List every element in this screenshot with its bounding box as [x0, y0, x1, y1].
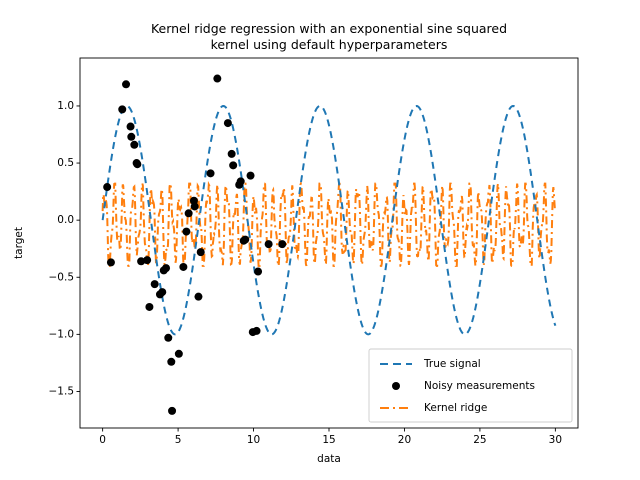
- scatter-point: [118, 105, 126, 113]
- matplotlib-figure: Kernel ridge regression with an exponent…: [0, 0, 640, 480]
- scatter-point: [253, 327, 261, 335]
- x-axis-label: data: [317, 453, 341, 465]
- scatter-point: [107, 258, 115, 266]
- legend-label: Kernel ridge: [424, 402, 487, 414]
- x-tick-label: 20: [398, 434, 411, 446]
- scatter-point: [167, 358, 175, 366]
- x-tick-label: 0: [99, 434, 106, 446]
- scatter-point: [133, 160, 141, 168]
- scatter-point: [151, 280, 159, 288]
- scatter-point: [191, 202, 199, 210]
- scatter-point: [213, 75, 221, 83]
- scatter-point: [185, 209, 193, 217]
- scatter-point: [130, 141, 138, 149]
- y-axis-label: target: [13, 227, 25, 259]
- y-tick-label: 0.5: [57, 157, 74, 169]
- scatter-point: [168, 407, 176, 415]
- y-tick-label: 0.0: [57, 214, 74, 226]
- chart-canvas: Kernel ridge regression with an exponent…: [0, 0, 640, 480]
- scatter-point: [122, 80, 130, 88]
- y-tick-label: 1.0: [57, 100, 74, 112]
- chart-title-line-1: Kernel ridge regression with an exponent…: [151, 21, 507, 36]
- scatter-point: [265, 240, 273, 248]
- legend-label: Noisy measurements: [424, 380, 535, 392]
- scatter-point: [229, 161, 237, 169]
- scatter-point: [237, 177, 245, 185]
- scatter-point: [197, 248, 205, 256]
- scatter-point: [164, 334, 172, 342]
- legend-label: True signal: [423, 358, 481, 370]
- x-tick-label: 25: [473, 434, 486, 446]
- scatter-point: [103, 183, 111, 191]
- scatter-point: [247, 172, 255, 180]
- scatter-point: [194, 293, 202, 301]
- scatter-point: [179, 263, 187, 271]
- scatter-point: [127, 133, 135, 141]
- x-tick-label: 15: [322, 434, 335, 446]
- scatter-point: [207, 169, 215, 177]
- scatter-point: [228, 150, 236, 158]
- chart-legend[interactable]: True signalNoisy measurementsKernel ridg…: [369, 349, 572, 422]
- y-tick-label: −1.0: [49, 328, 75, 340]
- scatter-point: [143, 256, 151, 264]
- y-tick-label: −0.5: [49, 271, 75, 283]
- scatter-point: [158, 288, 166, 296]
- scatter-point: [145, 303, 153, 311]
- y-tick-label: −1.5: [49, 385, 75, 397]
- scatter-point: [162, 264, 170, 272]
- scatter-point: [241, 236, 249, 244]
- x-tick-label: 5: [175, 434, 182, 446]
- scatter-point: [175, 350, 183, 358]
- scatter-point: [182, 228, 190, 236]
- scatter-point: [254, 268, 262, 276]
- scatter-point: [127, 123, 135, 131]
- scatter-point: [278, 240, 286, 248]
- x-tick-label: 30: [549, 434, 562, 446]
- legend-dot-icon: [392, 382, 400, 390]
- true-signal-line: [103, 106, 556, 334]
- chart-title-line-2: kernel using default hyperparameters: [211, 37, 448, 52]
- scatter-point: [224, 119, 232, 127]
- x-axis-ticks: 051015202530: [99, 428, 562, 446]
- y-axis-ticks: 1.00.50.0−0.5−1.0−1.5: [49, 100, 81, 397]
- x-tick-label: 10: [247, 434, 260, 446]
